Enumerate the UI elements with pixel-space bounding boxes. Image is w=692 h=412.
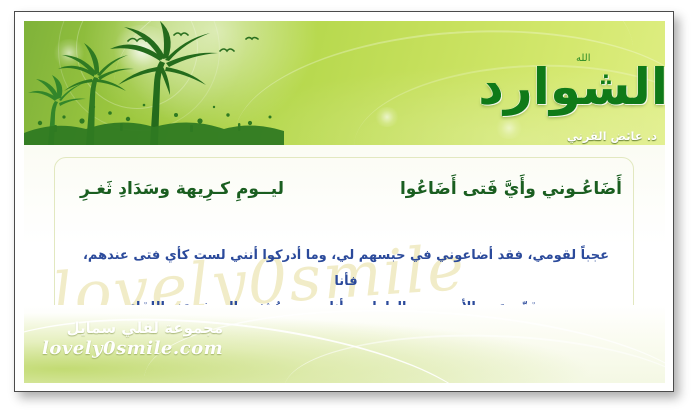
card-artwork: الله الشوارد د. عائض القرني lovely0smile…	[24, 21, 665, 383]
explanation-line-1: عجباً لقومي، فقد أضاعوني في حبسهم لي، وم…	[76, 243, 616, 295]
palm-trees-icon	[24, 21, 284, 145]
poetry-card-page: الله الشوارد د. عائض القرني lovely0smile…	[0, 0, 692, 412]
header-light-glow-c	[374, 107, 400, 127]
card-title: الله الشوارد	[518, 45, 665, 129]
author-name: د. عائض القرني	[567, 129, 657, 143]
hemistich-left: ليــومِ كـرِيهة وسَدَادِ ثَغـرِ	[80, 179, 284, 199]
footer-swoosh-3	[282, 328, 665, 383]
palm-trees-illustration	[24, 21, 284, 145]
card-body: lovely0smile أَضَاعُـوني وأَيَّ فَتى أَض…	[24, 145, 665, 383]
poetry-card: الله الشوارد د. عائض القرني lovely0smile…	[14, 11, 674, 392]
poetry-verse: أَضَاعُـوني وأَيَّ فَتى أَضَاعُوا ليــوم…	[64, 179, 626, 199]
brand-name-arabic: مجموعة لفلي سمايل	[42, 319, 223, 338]
title-ornament: الله	[576, 53, 591, 64]
brand-block: مجموعة لفلي سمايل lovely0smile.com	[42, 319, 223, 360]
brand-website-url: lovely0smile.com	[42, 338, 223, 360]
hemistich-right: أَضَاعُـوني وأَيَّ فَتى أَضَاعُوا	[400, 179, 622, 199]
card-footer: مجموعة لفلي سمايل lovely0smile.com	[24, 305, 665, 383]
card-header-banner: الله الشوارد د. عائض القرني	[24, 21, 665, 145]
title-text: الشوارد	[478, 58, 665, 116]
